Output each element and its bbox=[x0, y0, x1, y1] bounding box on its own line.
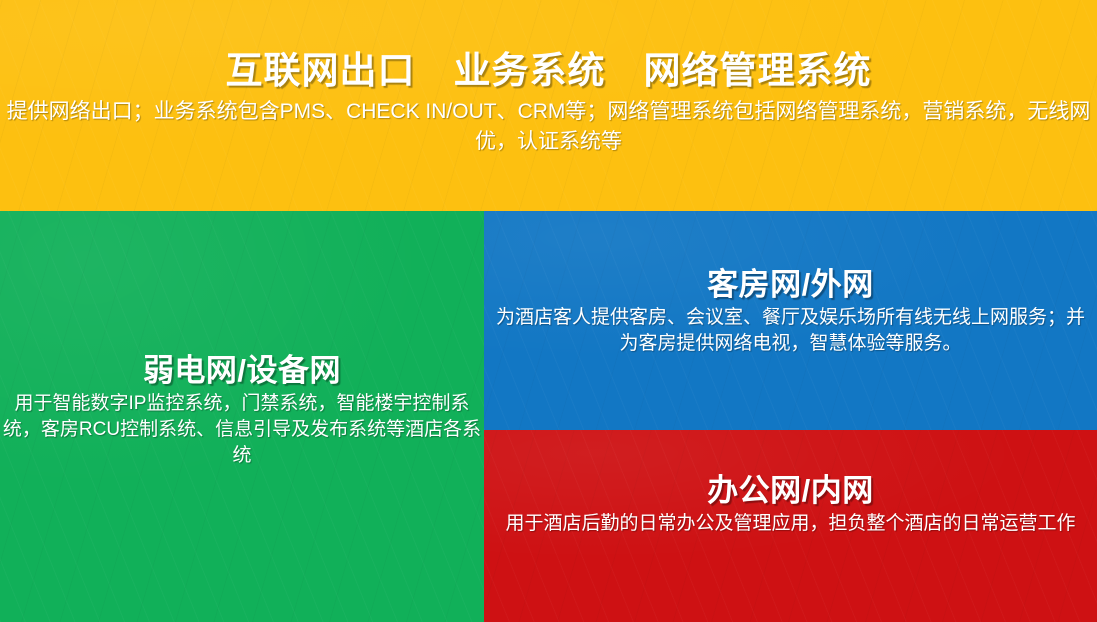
header-title: 互联网出口 业务系统 网络管理系统 bbox=[226, 52, 872, 90]
red-panel-description: 用于酒店后勤的日常办公及管理应用，担负整个酒店的日常运营工作 bbox=[491, 511, 1091, 537]
panel-guestroom-external-network: 客房网/外网 为酒店客人提供客房、会议室、餐厅及娱乐场所有线无线上网服务；并为客… bbox=[484, 211, 1097, 430]
green-panel-description: 用于智能数字IP监控系统，门禁系统，智能楼宇控制系统，客房RCU控制系统、信息引… bbox=[1, 391, 483, 468]
panel-office-internal-network: 办公网/内网 用于酒店后勤的日常办公及管理应用，担负整个酒店的日常运营工作 bbox=[484, 430, 1097, 622]
blue-panel-title: 客房网/外网 bbox=[707, 269, 874, 301]
network-architecture-slide: 互联网出口 业务系统 网络管理系统 提供网络出口；业务系统包含PMS、CHECK… bbox=[0, 0, 1097, 622]
green-panel-title: 弱电网/设备网 bbox=[143, 355, 341, 387]
header-description: 提供网络出口；业务系统包含PMS、CHECK IN/OUT、CRM等；网络管理系… bbox=[4, 97, 1094, 157]
header-panel-internet-exit: 互联网出口 业务系统 网络管理系统 提供网络出口；业务系统包含PMS、CHECK… bbox=[0, 0, 1097, 211]
blue-panel-description: 为酒店客人提供客房、会议室、餐厅及娱乐场所有线无线上网服务；并为客房提供网络电视… bbox=[491, 305, 1091, 357]
panel-weak-current-device-network: 弱电网/设备网 用于智能数字IP监控系统，门禁系统，智能楼宇控制系统，客房RCU… bbox=[0, 211, 484, 622]
red-panel-title: 办公网/内网 bbox=[707, 475, 874, 507]
